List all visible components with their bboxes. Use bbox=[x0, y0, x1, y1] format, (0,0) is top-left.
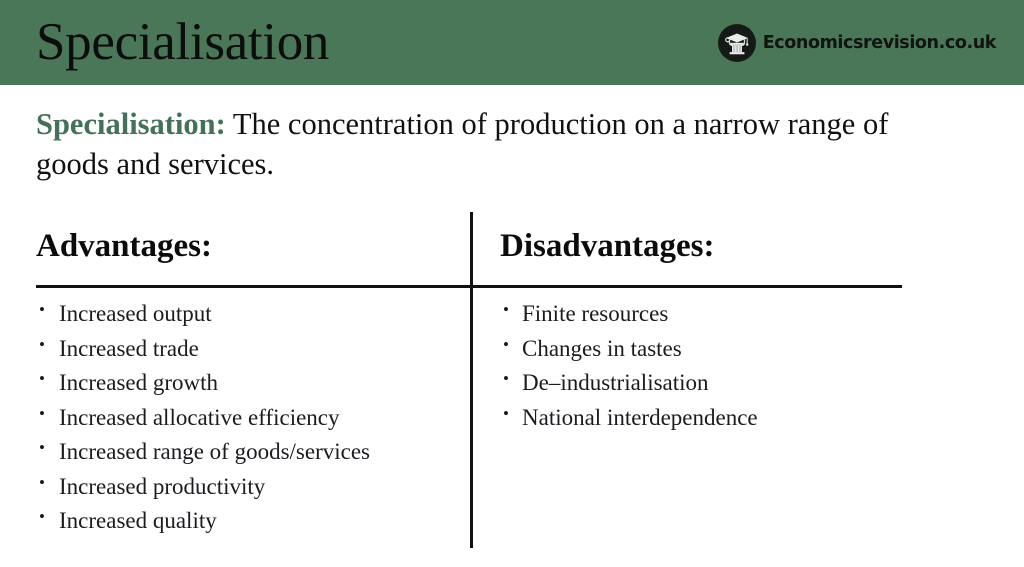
definition-term: Specialisation: bbox=[36, 107, 226, 141]
advantages-list: Increased output Increased trade Increas… bbox=[36, 302, 456, 544]
heading-underline bbox=[36, 285, 902, 288]
list-item: Increased productivity bbox=[36, 475, 456, 498]
disadvantages-column: Disadvantages: Finite resources Changes … bbox=[500, 212, 940, 264]
list-item: Changes in tastes bbox=[500, 337, 940, 360]
brand-name: Economicsrevision.co.uk bbox=[763, 33, 996, 53]
list-item: Increased quality bbox=[36, 509, 456, 532]
column-divider bbox=[470, 212, 473, 548]
definition-text: Specialisation: The concentration of pro… bbox=[36, 104, 956, 185]
list-item: De–industrialisation bbox=[500, 371, 940, 394]
list-item: Increased allocative efficiency bbox=[36, 406, 456, 429]
list-item: Increased trade bbox=[36, 337, 456, 360]
disadvantages-list: Finite resources Changes in tastes De–in… bbox=[500, 302, 940, 440]
list-item: Increased growth bbox=[36, 371, 456, 394]
header-band: Specialisation Economicsrevision. bbox=[0, 0, 1024, 85]
list-item: Increased output bbox=[36, 302, 456, 325]
graduation-cap-column-icon bbox=[718, 24, 756, 62]
comparison-columns: Advantages: Increased output Increased t… bbox=[0, 212, 1024, 560]
advantages-column: Advantages: Increased output Increased t… bbox=[36, 212, 456, 264]
page-title: Specialisation bbox=[36, 16, 329, 69]
brand-logo: Economicsrevision.co.uk bbox=[718, 24, 996, 62]
list-item: National interdependence bbox=[500, 406, 940, 429]
list-item: Finite resources bbox=[500, 302, 940, 325]
list-item: Increased range of goods/services bbox=[36, 440, 456, 463]
disadvantages-heading: Disadvantages: bbox=[500, 212, 940, 264]
advantages-heading: Advantages: bbox=[36, 212, 456, 264]
